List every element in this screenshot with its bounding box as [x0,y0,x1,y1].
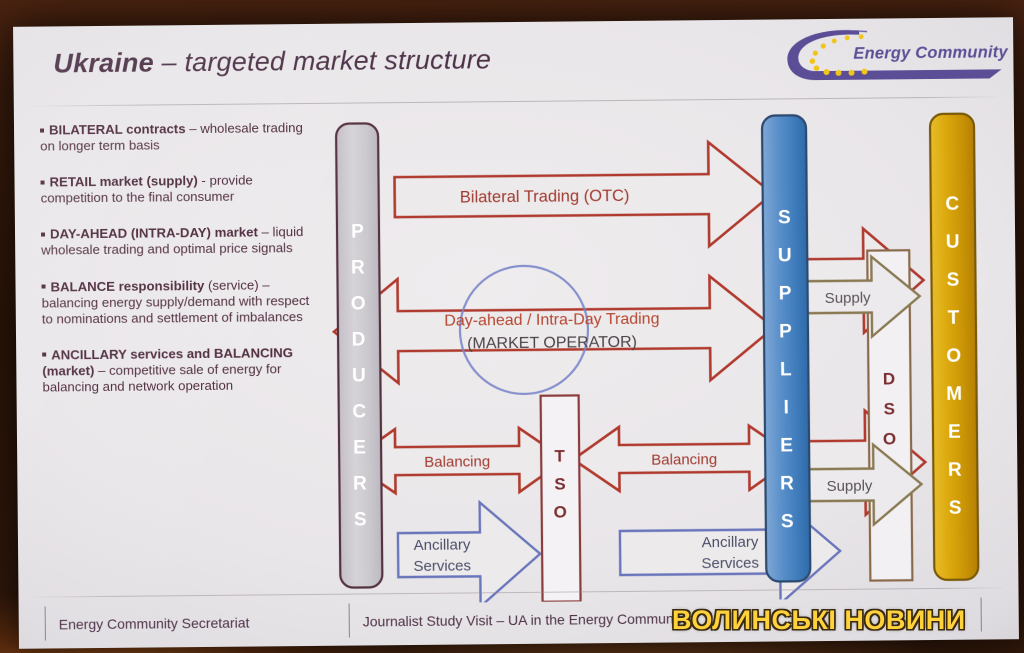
flow-ancillary-left-label-1: Ancillary [414,536,471,554]
bullet-list: BILATERAL contracts – wholesale trading … [40,120,311,416]
list-item: ANCILLARY services and BALANCING (market… [42,345,310,396]
list-item: DAY-AHEAD (INTRA-DAY) market – liquid wh… [41,224,309,259]
logo-text: Energy Community [853,43,1008,63]
dso-label: DSO [882,369,897,448]
flow-balancing-right-label: Balancing [651,451,717,469]
page-title-rest: – targeted market structure [154,44,492,77]
flow-ancillary-left-label-2: Services [413,557,471,575]
footer-tick-left [45,607,46,641]
footer-right-text: Journalist Study Visit – UA in the Energ… [363,610,688,629]
slide-header: Ukraine – targeted market structure [13,17,1014,105]
flow-supply-upper-label: Supply [825,290,872,307]
suppliers-label: SUPPLIERS [777,207,795,532]
footer-tick-middle [349,604,350,638]
list-item: RETAIL market (supply) - provide competi… [40,172,308,207]
tso-label: TSO [553,447,568,522]
news-watermark: ВОЛИНСЬКІ НОВИНИ [672,605,966,636]
presentation-slide: Ukraine – targeted market structure [13,17,1019,649]
bullet-head: RETAIL market (supply) [49,173,197,189]
bullet-square-icon [40,128,44,132]
bullet-square-icon [42,353,46,357]
market-structure-diagram: PRODUCERS SUPPLIERS CUSTOMERS TSO DSO Bi… [310,109,1005,604]
flow-day-ahead-label-1: Day-ahead / Intra-Day Trading [444,311,659,330]
footer-tick-right [981,598,982,632]
flow-ancillary-right-label-2: Services [701,555,759,573]
flow-day-ahead-arrow [333,276,774,384]
flow-day-ahead-label-2: (MARKET OPERATOR) [467,334,637,353]
flow-balancing-left-label: Balancing [424,453,490,471]
header-divider [30,96,998,106]
energy-community-logo: Energy Community [775,23,1004,89]
page-title: Ukraine – targeted market structure [53,44,491,79]
tso-box [541,395,581,601]
list-item: BILATERAL contracts – wholesale trading … [40,120,308,155]
bullet-head: DAY-AHEAD (INTRA-DAY) market [50,225,258,242]
bullet-square-icon [41,180,45,184]
page-title-lead: Ukraine [53,47,154,78]
flow-supply-lower-label: Supply [826,478,873,495]
list-item: BALANCE responsibility (service) –balanc… [41,277,309,328]
bullet-square-icon [41,232,45,236]
bullet-head: BALANCE responsibility [50,278,204,294]
bullet-square-icon [42,285,46,289]
flow-bilateral-label: Bilateral Trading (OTC) [460,187,630,207]
flow-ancillary-right-label-1: Ancillary [702,534,759,552]
bullet-head: BILATERAL contracts [49,121,186,137]
footer-left-text: Energy Community Secretariat [59,615,250,633]
